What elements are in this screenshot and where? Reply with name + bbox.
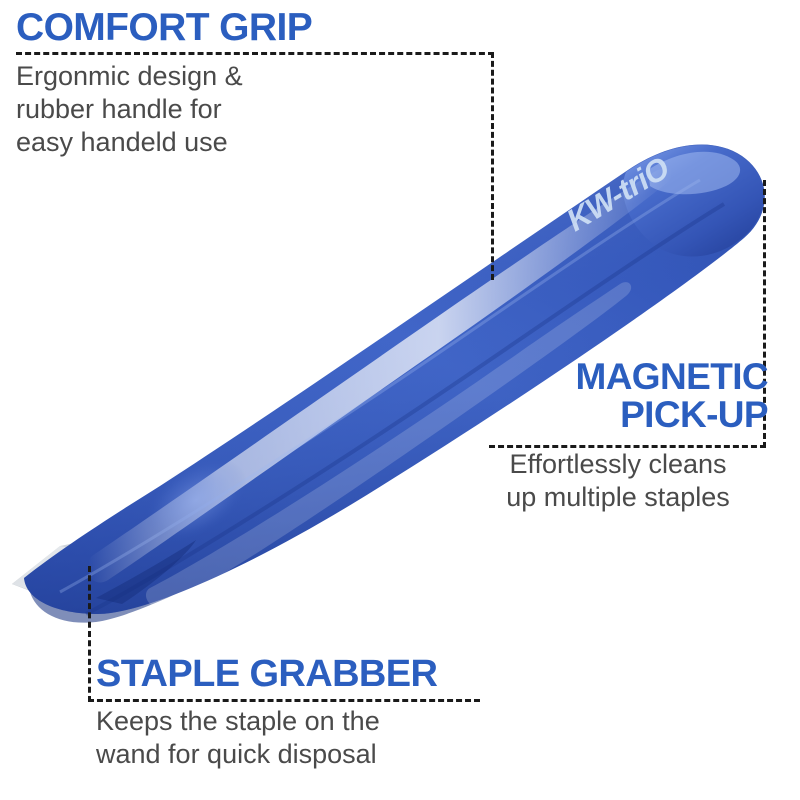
body-line: easy handeld use [16,126,496,159]
callout-staple-grabber-heading: STAPLE GRABBER [96,655,516,695]
leader-line-vertical [88,566,91,702]
body-line: Effortlessly cleans [468,448,768,481]
callout-magnetic-pick-up-body: Effortlessly cleans up multiple staples [468,448,768,515]
body-line: up multiple staples [468,481,768,514]
body-line: Keeps the staple on the [96,705,516,738]
heading-line: MAGNETIC [575,356,768,397]
product-infographic: KW-triO COMFORT GRIP Ergonmic design & r… [0,0,800,800]
heading-line: PICK-UP [620,394,768,435]
body-line: wand for quick disposal [96,738,516,771]
wand-neck-glow [130,441,261,558]
callout-staple-grabber-body: Keeps the staple on the wand for quick d… [96,705,516,772]
callout-magnetic-pick-up-heading: MAGNETIC PICK-UP [468,358,768,435]
callout-staple-grabber: STAPLE GRABBER Keeps the staple on the w… [96,655,516,771]
body-line: rubber handle for [16,93,496,126]
callout-comfort-grip-body: Ergonmic design & rubber handle for easy… [16,60,496,160]
body-line: Ergonmic design & [16,60,496,93]
callout-magnetic-pick-up: MAGNETIC PICK-UP Effortlessly cleans up … [468,358,768,515]
callout-comfort-grip-heading: COMFORT GRIP [16,8,496,49]
callout-comfort-grip: COMFORT GRIP Ergonmic design & rubber ha… [16,8,496,160]
